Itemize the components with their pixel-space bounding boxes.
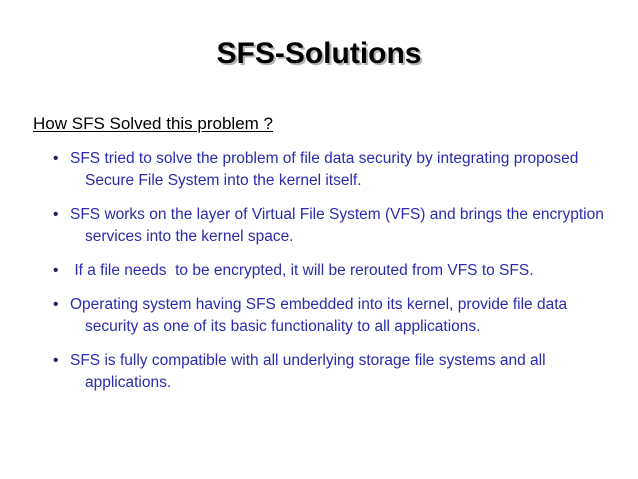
- list-item: • SFS is fully compatible with all under…: [0, 350, 638, 394]
- list-item-text: If a file needs to be encrypted, it will…: [70, 260, 605, 282]
- list-item: • SFS works on the layer of Virtual File…: [0, 204, 638, 248]
- bullet-point-icon: •: [53, 148, 63, 170]
- list-item: • SFS tried to solve the problem of file…: [0, 148, 638, 192]
- list-item-text: Operating system having SFS embedded int…: [70, 294, 605, 338]
- list-item-text: SFS is fully compatible with all underly…: [70, 350, 605, 394]
- list-item: • If a file needs to be encrypted, it wi…: [0, 260, 638, 282]
- bullet-point-icon: •: [53, 204, 63, 226]
- bullet-list: • SFS tried to solve the problem of file…: [0, 148, 638, 406]
- bullet-point-icon: •: [53, 350, 63, 372]
- section-heading: How SFS Solved this problem ?: [33, 113, 273, 134]
- presentation-slide: SFS-Solutions How SFS Solved this proble…: [0, 0, 638, 479]
- bullet-point-icon: •: [53, 260, 63, 282]
- list-item-text: SFS tried to solve the problem of file d…: [70, 148, 605, 192]
- list-item-text: SFS works on the layer of Virtual File S…: [70, 204, 605, 248]
- list-item: • Operating system having SFS embedded i…: [0, 294, 638, 338]
- page-title: SFS-Solutions: [0, 36, 638, 72]
- bullet-point-icon: •: [53, 294, 63, 316]
